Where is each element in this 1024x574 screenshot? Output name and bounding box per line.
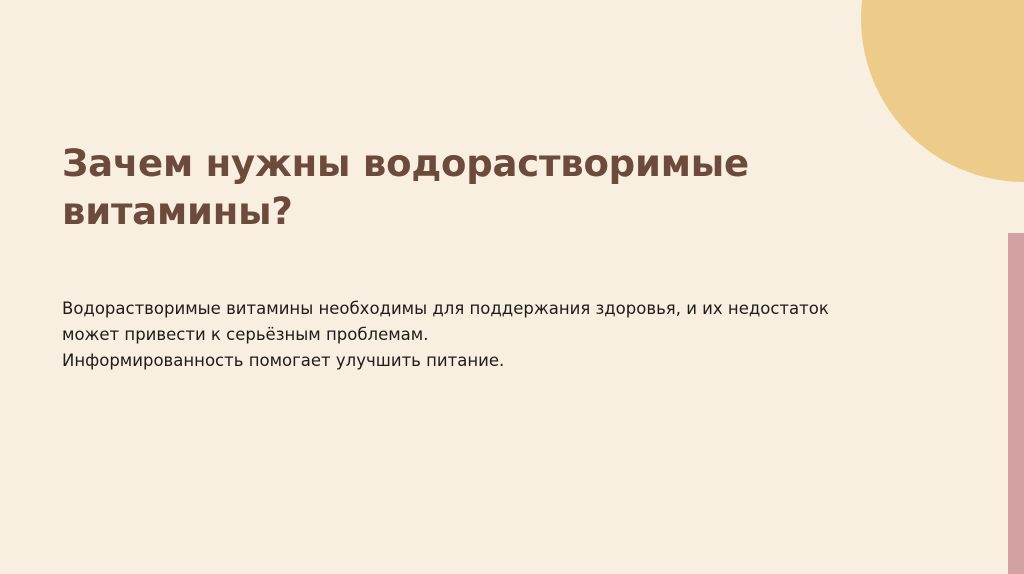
- slide-title: Зачем нужны водорастворимые витамины?: [62, 140, 852, 236]
- slide-body-text: Водорастворимые витамины необходимы для …: [62, 296, 882, 374]
- slide-canvas: Зачем нужны водорастворимые витамины? Во…: [0, 0, 1024, 574]
- decorative-vertical-bar-shape: [1008, 233, 1024, 574]
- decorative-circle-shape: [861, 0, 1024, 182]
